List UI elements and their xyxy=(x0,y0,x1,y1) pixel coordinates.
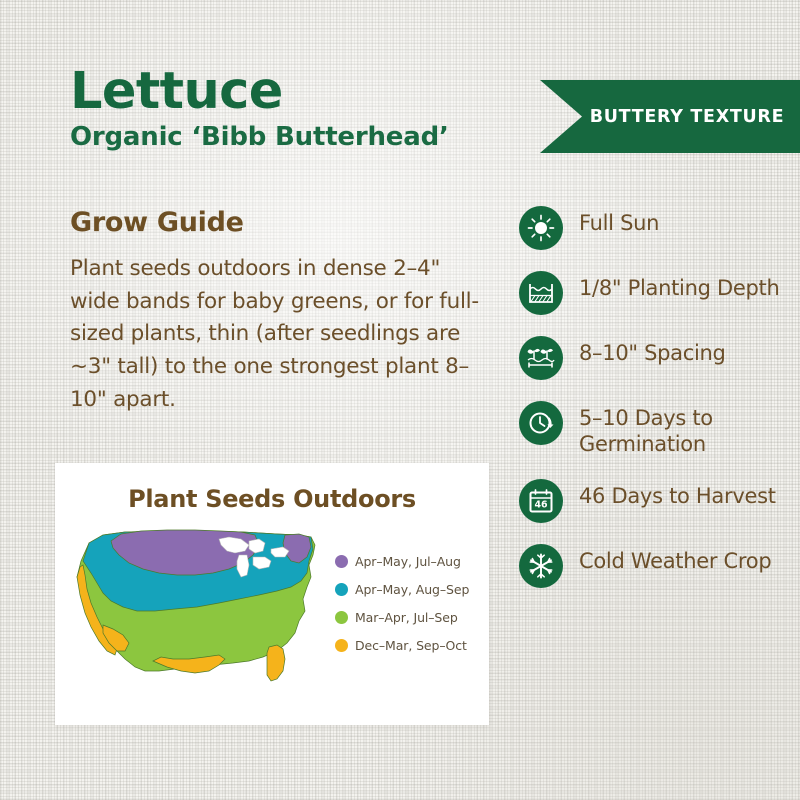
us-planting-zone-map xyxy=(63,521,331,691)
attribute-label: 5–10 Days to Germination xyxy=(579,401,789,458)
calendar-icon: 46 xyxy=(519,479,563,523)
product-variety-subtitle: Organic ‘Bibb Butterhead’ xyxy=(70,123,449,153)
feature-ribbon-banner: BUTTERY TEXTURE xyxy=(540,80,800,153)
legend-swatch-orange xyxy=(335,639,348,652)
attribute-label: Cold Weather Crop xyxy=(579,544,771,574)
legend-swatch-teal xyxy=(335,583,348,596)
legend-label: Apr–May, Aug–Sep xyxy=(355,582,469,597)
page-title: Lettuce xyxy=(70,66,449,117)
clock-icon xyxy=(519,401,563,445)
planting-map-card: Plant Seeds Outdoors xyxy=(55,463,489,725)
legend-label: Dec–Mar, Sep–Oct xyxy=(355,638,467,653)
sun-icon xyxy=(519,206,563,250)
planting-depth-icon xyxy=(519,271,563,315)
map-legend: Apr–May, Jul–Aug Apr–May, Aug–Sep Mar–Ap… xyxy=(331,554,489,659)
map-card-title: Plant Seeds Outdoors xyxy=(55,463,489,513)
legend-swatch-purple xyxy=(335,555,348,568)
attribute-row-cold-weather: Cold Weather Crop xyxy=(519,544,789,588)
legend-swatch-green xyxy=(335,611,348,624)
attribute-label: 1/8" Planting Depth xyxy=(579,271,779,301)
legend-item: Dec–Mar, Sep–Oct xyxy=(335,638,489,653)
attribute-row-planting-depth: 1/8" Planting Depth xyxy=(519,271,789,315)
header: Lettuce Organic ‘Bibb Butterhead’ xyxy=(70,66,449,153)
attribute-label: 46 Days to Harvest xyxy=(579,479,776,509)
calendar-badge-number: 46 xyxy=(534,499,548,510)
map-zone-orange-florida xyxy=(267,645,285,681)
legend-item: Mar–Apr, Jul–Sep xyxy=(335,610,489,625)
legend-label: Mar–Apr, Jul–Sep xyxy=(355,610,458,625)
grow-guide-section: Grow Guide Plant seeds outdoors in dense… xyxy=(70,207,482,416)
attribute-row-days-to-harvest: 46 46 Days to Harvest xyxy=(519,479,789,523)
attribute-row-full-sun: Full Sun xyxy=(519,206,789,250)
spacing-icon xyxy=(519,336,563,380)
legend-item: Apr–May, Aug–Sep xyxy=(335,582,489,597)
attribute-row-germination: 5–10 Days to Germination xyxy=(519,401,789,458)
legend-item: Apr–May, Jul–Aug xyxy=(335,554,489,569)
map-card-body: Apr–May, Jul–Aug Apr–May, Aug–Sep Mar–Ap… xyxy=(55,513,489,691)
attribute-list: Full Sun 1/8" Planting Dep xyxy=(519,206,789,588)
feature-ribbon-label: BUTTERY TEXTURE xyxy=(590,107,785,127)
grow-guide-heading: Grow Guide xyxy=(70,207,482,238)
legend-label: Apr–May, Jul–Aug xyxy=(355,554,461,569)
attribute-row-spacing: 8–10" Spacing xyxy=(519,336,789,380)
grow-guide-body-text: Plant seeds outdoors in dense 2–4" wide … xyxy=(70,253,482,416)
snowflake-icon xyxy=(519,544,563,588)
seed-packet-page: Lettuce Organic ‘Bibb Butterhead’ BUTTER… xyxy=(0,0,800,800)
map-zones xyxy=(77,530,315,681)
attribute-label: Full Sun xyxy=(579,206,659,236)
attribute-label: 8–10" Spacing xyxy=(579,336,726,366)
